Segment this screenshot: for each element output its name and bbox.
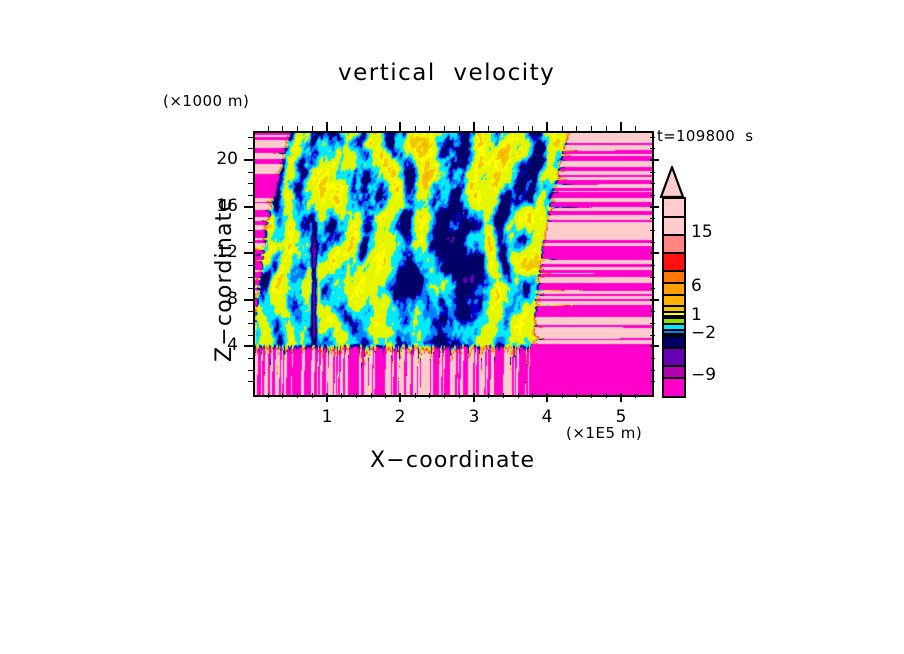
- axis-tick: [248, 230, 253, 231]
- y-axis-title: Z−coordinate: [212, 197, 237, 362]
- axis-tick: [591, 126, 592, 131]
- colorbar-band-divider: [664, 323, 684, 325]
- axis-tick: [650, 323, 655, 324]
- axis-tick: [635, 126, 636, 131]
- axis-tick: [385, 126, 386, 131]
- chart-canvas-root: vertical velocity (×1000 m) t=109800 s 1…: [0, 0, 904, 654]
- axis-tick: [518, 126, 519, 131]
- axis-tick: [650, 230, 655, 231]
- colorbar-band-divider: [664, 294, 684, 296]
- axis-tick: [620, 122, 622, 131]
- colorbar-tick-label: 6: [691, 276, 702, 296]
- axis-tick: [248, 358, 253, 359]
- axis-tick: [650, 137, 655, 138]
- axis-tick: [248, 218, 253, 219]
- axis-tick: [248, 183, 253, 184]
- axis-tick: [503, 393, 504, 398]
- colorbar-band-divider: [664, 270, 684, 272]
- colorbar-band-divider: [664, 252, 684, 254]
- colorbar-band-divider: [664, 335, 684, 337]
- colorbar-band-divider: [664, 311, 684, 313]
- colorbar-band-divider: [664, 329, 684, 331]
- colorbar-band: [664, 235, 684, 253]
- axis-tick: [248, 265, 253, 266]
- axis-tick: [503, 126, 504, 131]
- axis-tick: [248, 323, 253, 324]
- colorbar-tick-label: −2: [691, 323, 716, 343]
- colorbar-band-divider: [664, 347, 684, 349]
- colorbar-band-divider: [664, 234, 684, 236]
- axis-tick: [650, 345, 659, 347]
- axis-tick: [326, 393, 328, 402]
- time-annotation: t=109800 s: [657, 127, 753, 145]
- axis-tick-label: 20: [216, 149, 238, 169]
- x-axis-title: X−coordinate: [370, 448, 535, 473]
- axis-tick: [371, 393, 372, 398]
- axis-tick-label: 3: [469, 407, 480, 427]
- axis-tick: [650, 172, 655, 173]
- axis-tick: [326, 122, 328, 131]
- axis-tick: [244, 299, 253, 301]
- axis-tick: [244, 159, 253, 161]
- axis-tick: [248, 148, 253, 149]
- axis-tick: [650, 159, 659, 161]
- axis-tick: [488, 393, 489, 398]
- axis-tick: [356, 126, 357, 131]
- axis-tick: [650, 183, 655, 184]
- axis-tick: [268, 126, 269, 131]
- colorbar-band-divider: [664, 216, 684, 218]
- colorbar-band-divider: [664, 282, 684, 284]
- colorbar-top-arrow-icon: [659, 166, 685, 198]
- axis-tick: [650, 195, 655, 196]
- colorbar-band: [664, 378, 684, 396]
- axis-tick: [650, 288, 655, 289]
- axis-tick: [488, 126, 489, 131]
- axis-tick: [244, 345, 253, 347]
- axis-tick: [248, 242, 253, 243]
- axis-tick: [429, 126, 430, 131]
- colorbar-band: [664, 253, 684, 271]
- axis-tick: [248, 335, 253, 336]
- axis-tick: [650, 370, 655, 371]
- axis-tick: [650, 206, 659, 208]
- y-axis-unit-label: (×1000 m): [163, 92, 249, 110]
- axis-tick: [371, 126, 372, 131]
- colorbar-band-divider: [664, 377, 684, 379]
- axis-tick: [650, 311, 655, 312]
- axis-tick-label: 2: [395, 407, 406, 427]
- axis-tick: [650, 358, 655, 359]
- axis-tick: [341, 393, 342, 398]
- axis-tick: [244, 252, 253, 254]
- colorbar-band-divider: [664, 365, 684, 367]
- axis-tick: [341, 126, 342, 131]
- axis-tick: [650, 299, 659, 301]
- axis-tick: [282, 393, 283, 398]
- axis-tick: [606, 393, 607, 398]
- axis-tick: [650, 242, 655, 243]
- colorbar-gradient-body: [662, 197, 686, 398]
- axis-tick: [356, 393, 357, 398]
- axis-tick: [473, 122, 475, 131]
- axis-tick: [399, 393, 401, 402]
- axis-tick: [385, 393, 386, 398]
- colorbar-tick-label: 15: [691, 222, 713, 242]
- axis-tick: [415, 393, 416, 398]
- axis-tick: [650, 148, 655, 149]
- axis-tick: [518, 393, 519, 398]
- x-axis-unit-label: (×1E5 m): [566, 424, 642, 442]
- axis-tick: [620, 393, 622, 402]
- axis-tick: [399, 122, 401, 131]
- axis-tick: [650, 218, 655, 219]
- axis-tick: [546, 122, 548, 131]
- plot-area: [253, 131, 654, 397]
- colorbar-tick-label: −9: [691, 365, 716, 385]
- axis-tick: [297, 126, 298, 131]
- axis-tick: [562, 393, 563, 398]
- axis-tick: [546, 393, 548, 402]
- axis-tick: [459, 393, 460, 398]
- axis-tick: [248, 288, 253, 289]
- axis-tick: [415, 126, 416, 131]
- axis-tick: [297, 393, 298, 398]
- axis-tick: [248, 311, 253, 312]
- axis-tick: [248, 277, 253, 278]
- axis-tick: [248, 195, 253, 196]
- axis-tick: [532, 126, 533, 131]
- axis-tick: [532, 393, 533, 398]
- axis-tick: [459, 126, 460, 131]
- axis-tick: [248, 172, 253, 173]
- chart-title: vertical velocity: [338, 60, 555, 86]
- axis-tick: [650, 335, 655, 336]
- axis-tick: [473, 393, 475, 402]
- axis-tick: [635, 393, 636, 398]
- colorbar-band: [664, 217, 684, 235]
- colorbar-band: [664, 199, 684, 217]
- axis-tick: [576, 393, 577, 398]
- axis-tick: [650, 381, 655, 382]
- axis-tick: [248, 370, 253, 371]
- axis-tick: [562, 126, 563, 131]
- colorbar-band-divider: [664, 305, 684, 307]
- axis-tick: [591, 393, 592, 398]
- axis-tick-label: 4: [542, 407, 553, 427]
- axis-tick: [268, 393, 269, 398]
- axis-tick: [650, 265, 655, 266]
- axis-tick: [444, 126, 445, 131]
- axis-tick-label: 1: [322, 407, 333, 427]
- axis-tick: [650, 277, 655, 278]
- colorbar-band-divider: [664, 317, 684, 319]
- axis-tick: [576, 126, 577, 131]
- velocity-field-heatmap: [255, 133, 652, 395]
- axis-tick: [248, 381, 253, 382]
- axis-tick: [606, 126, 607, 131]
- axis-tick: [444, 393, 445, 398]
- axis-tick: [282, 126, 283, 131]
- axis-tick: [650, 252, 659, 254]
- axis-tick: [244, 206, 253, 208]
- colorbar-band: [664, 348, 684, 366]
- axis-tick: [312, 126, 313, 131]
- axis-tick: [429, 393, 430, 398]
- axis-tick: [248, 137, 253, 138]
- axis-tick: [312, 393, 313, 398]
